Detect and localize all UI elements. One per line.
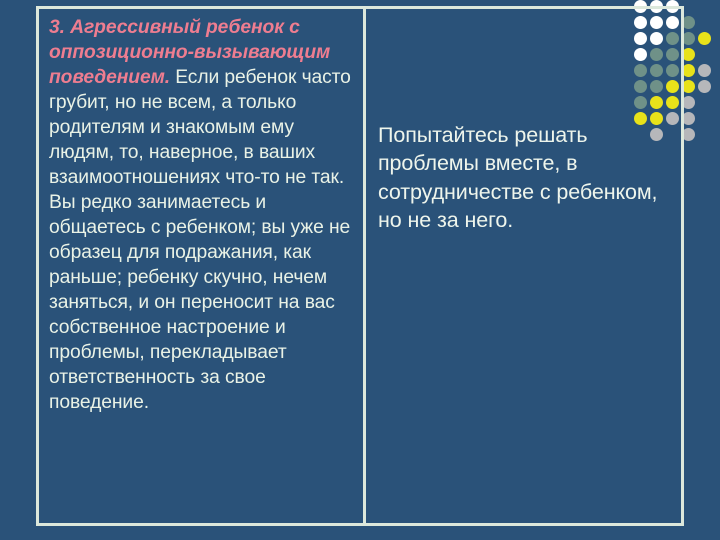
table-cell-problem: 3. Агрессивный ребенок с оппозиционно-вы…	[39, 9, 366, 523]
decorative-dot	[698, 32, 711, 45]
problem-body-text: Если ребенок часто грубит, но не всем, а…	[49, 67, 351, 413]
decorative-dot	[698, 80, 711, 93]
slide-canvas: 3. Агрессивный ребенок с оппозиционно-вы…	[0, 0, 720, 540]
content-table: 3. Агрессивный ребенок с оппозиционно-вы…	[36, 6, 684, 526]
table-cell-advice: Попытайтесь решать проблемы вместе, в со…	[366, 9, 681, 523]
decorative-dot	[698, 64, 711, 77]
advice-paragraph: Попытайтесь решать проблемы вместе, в со…	[378, 121, 673, 235]
problem-paragraph: 3. Агрессивный ребенок с оппозиционно-вы…	[49, 16, 353, 416]
